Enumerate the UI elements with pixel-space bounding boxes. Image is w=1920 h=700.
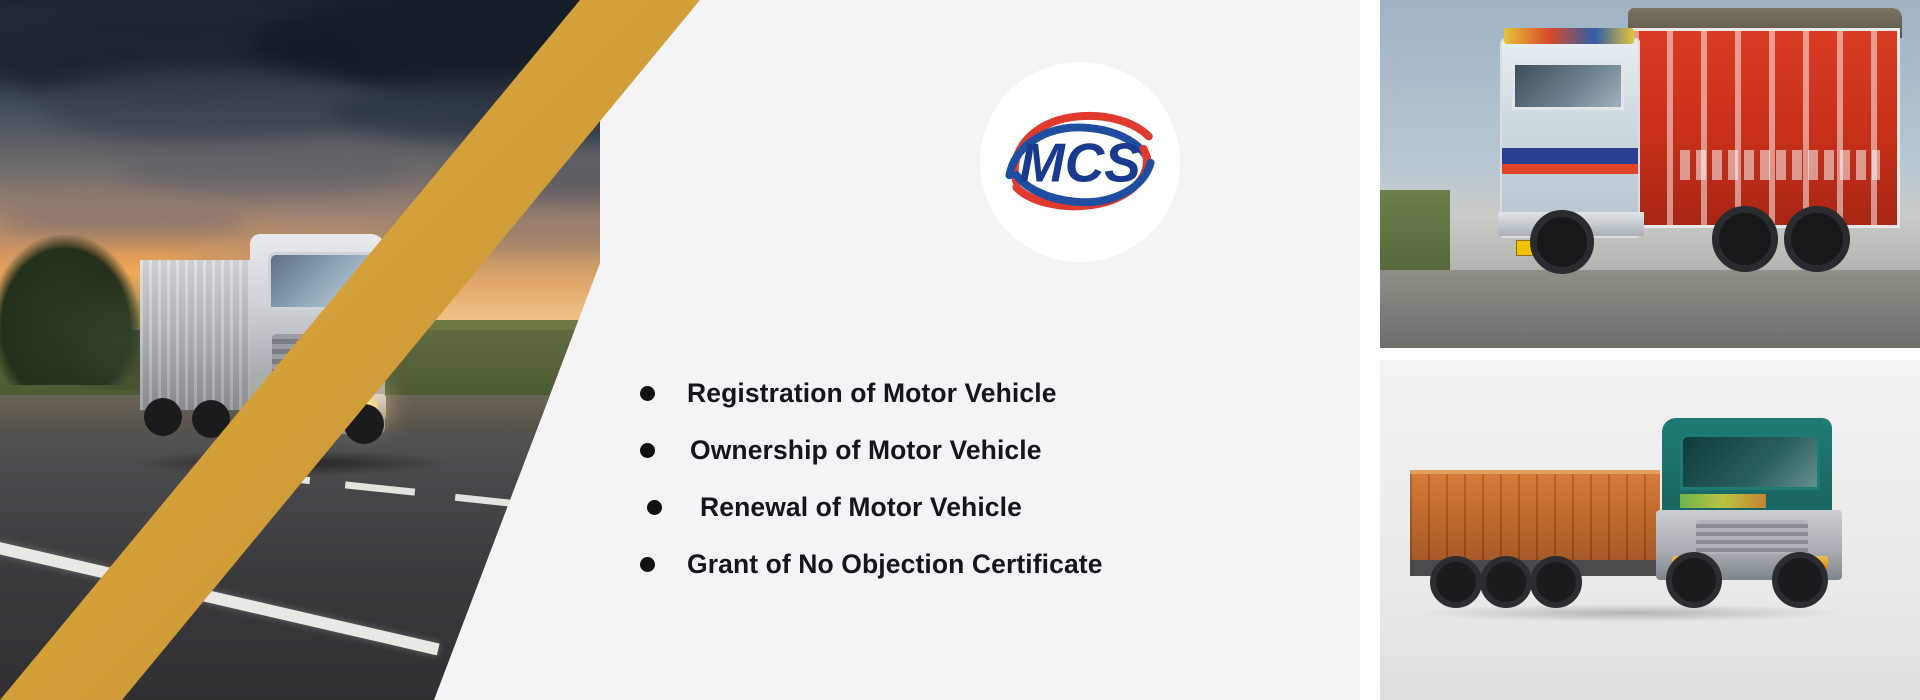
wheel [1530, 210, 1594, 274]
truck-shadow [1420, 604, 1840, 622]
wheel [144, 398, 182, 436]
service-label: Registration of Motor Vehicle [687, 378, 1057, 409]
cab-stripe [1502, 148, 1638, 164]
trailer [140, 260, 265, 410]
list-item: Grant of No Objection Certificate [640, 536, 1340, 593]
wheel [1772, 552, 1828, 608]
cab-decal [1680, 494, 1766, 508]
green-trailer-truck-photo [1380, 360, 1920, 700]
wheel [1712, 206, 1778, 272]
grille [1696, 520, 1808, 554]
wheel [1480, 556, 1532, 608]
center-panel: MCS Registration of Motor Vehicle Owners… [600, 0, 1360, 700]
svg-text:MCS: MCS [1019, 131, 1141, 193]
bullet-dot-icon [640, 557, 655, 572]
mcs-logo-mark: MCS [991, 87, 1169, 237]
service-label: Grant of No Objection Certificate [687, 549, 1103, 580]
cargo-body [1630, 28, 1900, 228]
windshield [1512, 62, 1624, 110]
windshield [1680, 434, 1820, 490]
list-item: Renewal of Motor Vehicle [640, 479, 1340, 536]
service-label: Ownership of Motor Vehicle [690, 435, 1042, 466]
list-item: Registration of Motor Vehicle [640, 365, 1340, 422]
bullet-dot-icon [640, 386, 655, 401]
tipper-trailer [1410, 470, 1660, 565]
wheel [1666, 552, 1722, 608]
right-photo-column [1360, 0, 1920, 700]
cloud [40, 70, 380, 140]
mcs-logo: MCS [980, 62, 1180, 262]
services-list: Registration of Motor Vehicle Ownership … [640, 365, 1340, 593]
bullet-dot-icon [647, 500, 662, 515]
decorated-indian-truck-photo [1380, 0, 1920, 348]
body-lettering [1680, 150, 1880, 180]
cloud [120, 145, 420, 193]
service-label: Renewal of Motor Vehicle [700, 492, 1022, 523]
wheel [1784, 206, 1850, 272]
wheel [1530, 556, 1582, 608]
service-banner: MCS Registration of Motor Vehicle Owners… [0, 0, 1920, 700]
bullet-dot-icon [640, 443, 655, 458]
cab-roof-lights [1504, 28, 1634, 44]
ground [1380, 270, 1920, 348]
wheel [1430, 556, 1482, 608]
cab-stripe [1502, 164, 1638, 174]
list-item: Ownership of Motor Vehicle [640, 422, 1340, 479]
